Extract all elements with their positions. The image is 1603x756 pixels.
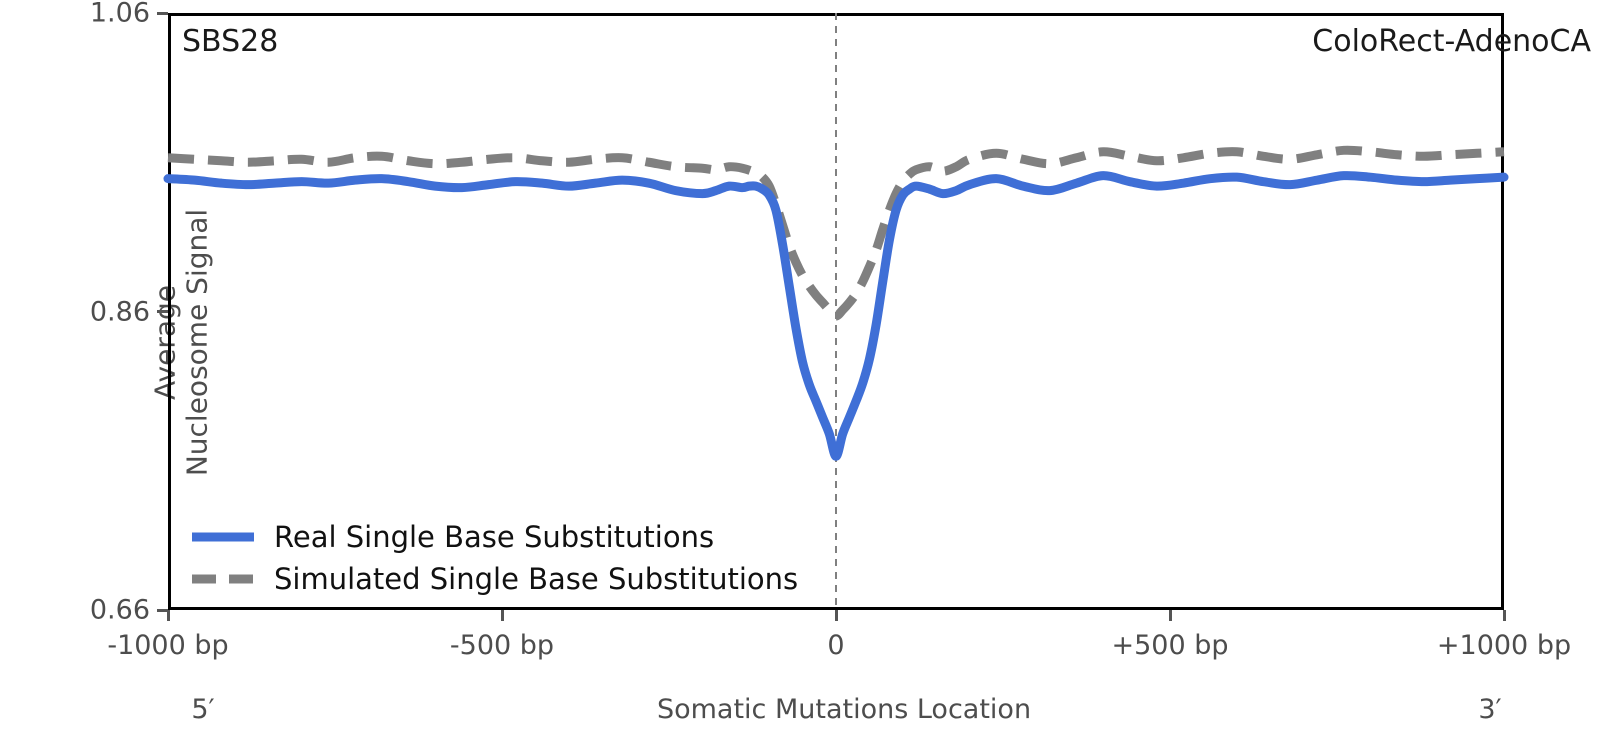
x-tick-label: +1000 bp (1437, 630, 1571, 661)
legend-item-simulated: Simulated Single Base Substitutions (190, 558, 798, 600)
x-tick-mark (501, 610, 504, 621)
y-tick-label: 0.66 (0, 595, 150, 626)
x-tick-mark (1169, 610, 1172, 621)
x-axis-title: Somatic Mutations Location (657, 694, 1031, 725)
y-tick-label: 1.06 (0, 0, 150, 29)
signature-annotation: SBS28 (182, 24, 278, 59)
legend-label-simulated: Simulated Single Base Substitutions (274, 562, 798, 596)
x-tick-mark (835, 610, 838, 621)
legend-item-real: Real Single Base Substitutions (190, 516, 798, 558)
legend-swatch-solid-line-icon (190, 525, 256, 549)
cancer-type-annotation: ColoRect-AdenoCA (1312, 24, 1591, 59)
x-tick-label: -1000 bp (107, 630, 228, 661)
x-tick-mark (167, 610, 170, 621)
x-tick-label: -500 bp (450, 630, 554, 661)
legend-swatch-dashed-line-icon (190, 567, 256, 591)
y-tick-mark (157, 12, 168, 15)
five-prime-label: 5′ (191, 694, 214, 725)
y-tick-mark (157, 310, 168, 313)
nucleosome-signal-figure: Average Nucleosome Signal 0.660.861.06 -… (0, 0, 1603, 756)
legend: Real Single Base Substitutions Simulated… (190, 516, 798, 600)
y-tick-label: 0.86 (0, 296, 150, 327)
three-prime-label: 3′ (1478, 694, 1501, 725)
x-tick-label: 0 (827, 630, 844, 661)
legend-label-real: Real Single Base Substitutions (274, 520, 714, 554)
x-tick-mark (1503, 610, 1506, 621)
x-tick-label: +500 bp (1111, 630, 1228, 661)
